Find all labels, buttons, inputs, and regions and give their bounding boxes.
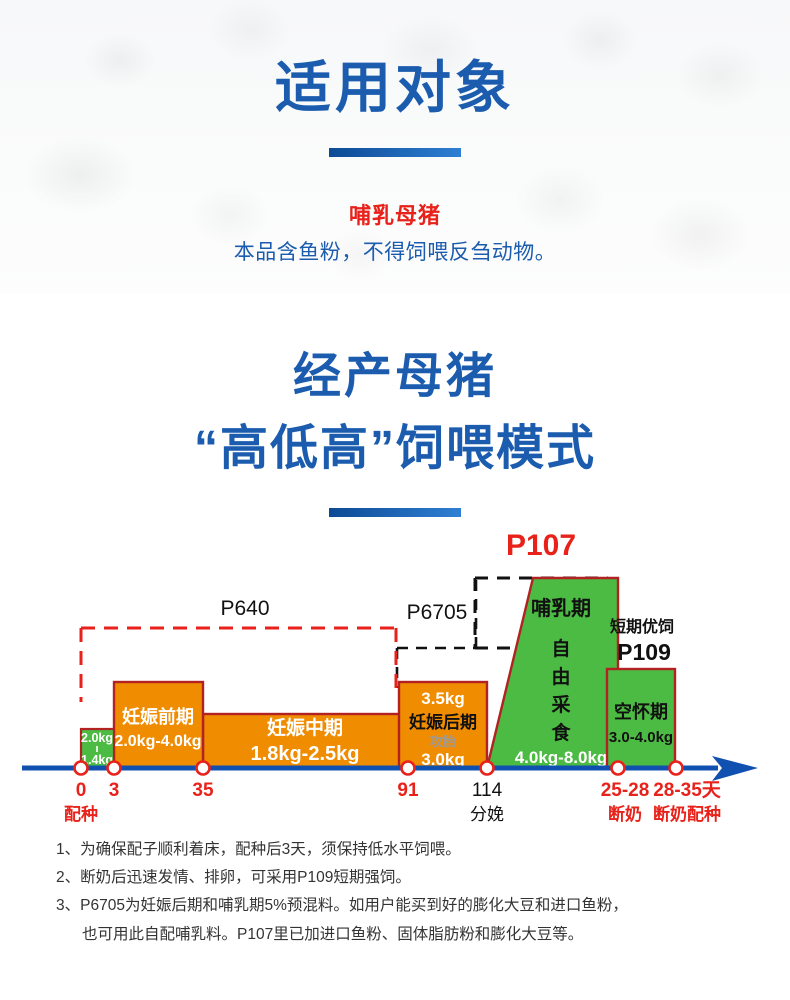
tick-label-114: 114	[472, 780, 503, 801]
tick-label-rebreeding: 28-35天	[653, 780, 722, 801]
note-number: 2、	[56, 869, 80, 886]
title-underline-bar	[329, 148, 461, 157]
bracket-p6705	[397, 578, 476, 688]
annotation-short-flushing-line1: 短期优饲	[610, 617, 674, 636]
bracket-label-p6705: P6705	[407, 601, 468, 624]
tick-label-91: 91	[397, 780, 419, 801]
note-item: 2、断奶后迅速发情、排卵，可采用P109短期强饲。	[56, 864, 756, 892]
note-item: 1、为确保配子顺利着床，配种后3天，须保持低水平饲喂。	[56, 836, 756, 864]
bar-amount-lactation: 4.0kg-8.0kg	[515, 748, 608, 767]
bar-sublabel-gestation-late: 攻胎	[430, 734, 456, 749]
header-subtitle-red: 哺乳母猪	[0, 198, 790, 230]
note-text: P6705为妊娠后期和哺乳期5%预混料。如用户能买到好的膨化大豆和进口鱼粉，	[80, 897, 628, 914]
bar-value-top-post-breeding: 2.0kg	[81, 731, 113, 745]
bar-amount-empty-period: 3.0-4.0kg	[609, 729, 673, 746]
bar-label-empty-period: 空怀期	[614, 701, 668, 722]
header-panel: 适用对象 哺乳母猪 本品含鱼粉，不得饲喂反刍动物。	[0, 0, 790, 294]
tick-sublabel-0: 配种	[64, 804, 98, 824]
tick-label-weaning: 25-28	[601, 780, 650, 801]
note-number: 3、	[56, 897, 80, 914]
note-text-continued: 也可用此自配哺乳料。P107里已加进口鱼粉、固体脂肪粉和膨化大豆等。	[56, 921, 756, 949]
note-text: 为确保配子顺利着床，配种后3天，须保持低水平饲喂。	[80, 841, 461, 858]
tick-label-0: 0	[76, 780, 87, 801]
tick-label-3: 3	[109, 780, 120, 801]
section-title-line1: 经产母猪	[0, 350, 790, 404]
tick-label-35: 35	[192, 780, 214, 801]
bar-label-lactation: 哺乳期	[531, 596, 591, 620]
tick-sublabel-114: 分娩	[470, 805, 504, 824]
bar-amount-gestation-early: 2.0kg-4.0kg	[114, 733, 201, 750]
page-title: 适用对象	[0, 60, 790, 116]
bar-sublabel-lactation-3: 采	[551, 694, 570, 716]
notes-list: 1、为确保配子顺利着床，配种后3天，须保持低水平饲喂。 2、断奶后迅速发情、排卵…	[56, 836, 756, 949]
bar-label-gestation-mid: 妊娠中期	[267, 716, 343, 739]
bar-sublabel-lactation-4: 食	[551, 721, 571, 744]
bar-amount-top-gestation-late: 3.5kg	[421, 689, 464, 708]
section-title-underline-bar	[329, 508, 461, 517]
bar-amount-gestation-mid: 1.8kg-2.5kg	[251, 743, 360, 765]
note-text: 断奶后迅速发情、排卵，可采用P109短期强饲。	[80, 869, 411, 886]
bar-sublabel-lactation-2: 由	[551, 665, 570, 688]
axis-arrowhead	[712, 756, 758, 781]
bar-sublabel-lactation-1: 自	[551, 637, 570, 660]
tick-sublabel-rebreeding: 断奶配种	[653, 804, 721, 824]
bracket-label-p107: P107	[506, 529, 576, 562]
note-item: 3、P6705为妊娠后期和哺乳期5%预混料。如用户能买到好的膨化大豆和进口鱼粉，…	[56, 892, 756, 948]
note-number: 1、	[56, 841, 80, 858]
tick-sublabel-weaning: 断奶	[608, 804, 642, 824]
bar-label-gestation-late: 妊娠后期	[409, 712, 477, 732]
feeding-schedule-chart: P107 P6705 P640 妊娠中期 1.8kg-2.5kg 妊娠前期 2.…	[0, 520, 790, 830]
bracket-label-p640: P640	[220, 597, 269, 620]
section-title-line2: “高低高”饲喂模式	[0, 422, 790, 476]
bar-label-gestation-early: 妊娠前期	[122, 706, 194, 727]
header-subtitle-blue: 本品含鱼粉，不得饲喂反刍动物。	[0, 236, 790, 266]
annotation-short-flushing-line2: P109	[617, 639, 671, 665]
